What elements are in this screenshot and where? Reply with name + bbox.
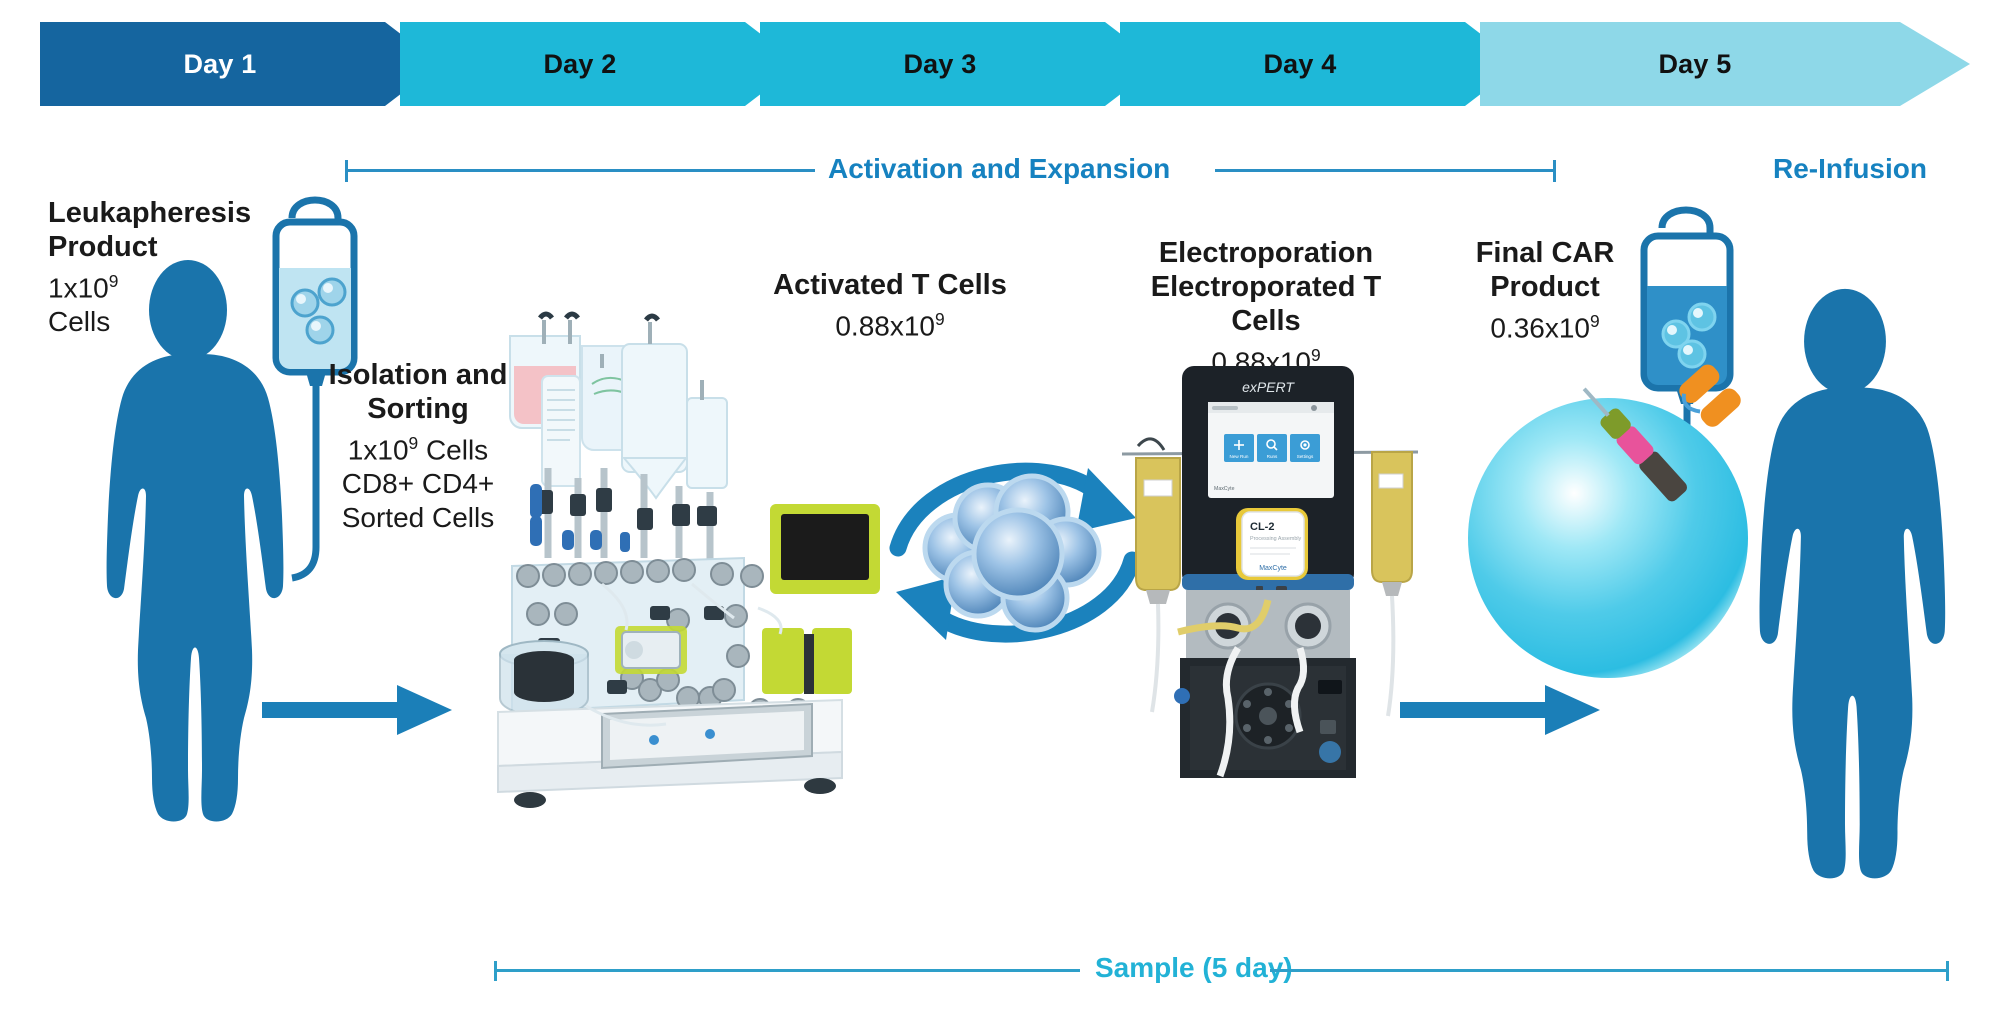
leukapheresis-title-1: Leukapheresis: [48, 196, 263, 230]
activated-tcells-label: Activated T Cells 0.88x109: [770, 268, 1010, 343]
activated-value: 0.88x109: [770, 302, 1010, 343]
sample-bracket-line-right: [1270, 969, 1948, 972]
final-car-label: Final CAR Product 0.36x109: [1440, 236, 1650, 345]
diagram-canvas: Day 1 Day 2 Day 3 Day 4 Day 5 Activation…: [0, 0, 2000, 1012]
svg-text:MaxCyte: MaxCyte: [1214, 486, 1235, 492]
final-car-value: 0.36x109: [1440, 304, 1650, 345]
activation-bracket-label: Activation and Expansion: [828, 153, 1170, 185]
brand-text: exPERT: [1242, 379, 1295, 395]
electroporation-instrument: exPERT New Run Runs Settings MaxCyte: [1120, 348, 1420, 788]
sample-bracket-line-left: [494, 969, 1080, 972]
cartridge-subtitle: Processing Assembly: [1250, 536, 1302, 542]
flow-arrow-2: [1400, 684, 1600, 736]
activation-bracket-line-right: [1215, 169, 1555, 172]
patient-silhouette-left: [88, 258, 288, 828]
final-car-title-2: Product: [1440, 270, 1650, 304]
patient-silhouette-right: [1740, 286, 1950, 886]
svg-text:New Run: New Run: [1230, 454, 1249, 459]
activation-bracket-cap-right: [1553, 160, 1556, 182]
day-label-3: Day 3: [760, 22, 1120, 106]
day-label-2: Day 2: [400, 22, 760, 106]
svg-text:Settings: Settings: [1297, 454, 1314, 459]
reinfusion-label: Re-Infusion: [1773, 153, 1927, 185]
sample-bracket-label: Sample (5 day): [1095, 952, 1293, 984]
electroporation-title-1: Electroporation: [1116, 236, 1416, 270]
cartridge-brand: MaxCyte: [1259, 565, 1287, 572]
iv-bag-electroporator-right: [1372, 452, 1412, 716]
electroporation-title-2: Electroporated T Cells: [1116, 270, 1416, 338]
activation-bracket-line-left: [345, 169, 815, 172]
sample-bracket-cap-right: [1946, 961, 1949, 981]
svg-text:Runs: Runs: [1267, 454, 1278, 459]
iv-bag-electroporator-left: [1136, 439, 1180, 712]
cartridge-title: CL-2: [1250, 521, 1274, 533]
flow-arrow-1: [262, 684, 452, 736]
cell-processing-system: [482, 308, 882, 818]
day-label-4: Day 4: [1120, 22, 1480, 106]
timeline-banner: Day 1 Day 2 Day 3 Day 4 Day 5: [40, 22, 1970, 106]
activated-title: Activated T Cells: [770, 268, 1010, 302]
final-car-title-1: Final CAR: [1440, 236, 1650, 270]
day-label-1: Day 1: [40, 22, 400, 106]
expanding-cell-cluster: [880, 420, 1150, 670]
day-label-5: Day 5: [1480, 22, 1910, 106]
